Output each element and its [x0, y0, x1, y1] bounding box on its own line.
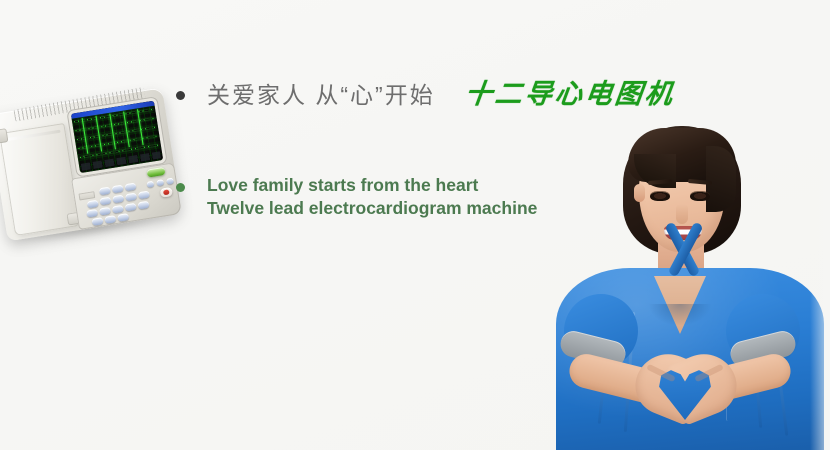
- headline-chinese-text: 关爱家人 从“心”开始: [207, 82, 435, 108]
- nurse-model-image: [530, 118, 830, 450]
- device-key: [138, 201, 150, 210]
- device-nav-key: [146, 181, 154, 188]
- device-key: [87, 200, 99, 209]
- device-key: [92, 217, 104, 226]
- headline-row: 关爱家人 从“心”开始 十二导心电图机: [176, 78, 696, 112]
- subheading-english: Love family starts from the heart Twelve…: [185, 174, 537, 220]
- device-key: [99, 207, 111, 216]
- product-name-chinese: 十二导心电图机: [463, 78, 677, 112]
- device-stop-key: [160, 187, 173, 198]
- subheading-line-2: Twelve lead electrocardiogram machine: [207, 197, 537, 220]
- ecg-machine-image: [0, 82, 193, 260]
- nurse-edge-fade: [810, 118, 830, 450]
- nurse-collar-shadow: [648, 304, 712, 326]
- device-key: [138, 191, 150, 200]
- device-nav-key: [166, 178, 174, 185]
- nurse-eye-left: [650, 192, 670, 201]
- nurse-nose: [676, 204, 688, 224]
- device-key: [117, 213, 129, 222]
- bullet-dot-icon: [176, 91, 185, 100]
- device-nav-key: [156, 179, 164, 186]
- promo-banner: 关爱家人 从“心”开始 十二导心电图机 Love family starts f…: [0, 0, 830, 450]
- device-key: [112, 185, 124, 194]
- device-hinge-top: [0, 128, 8, 143]
- device-key: [125, 203, 137, 212]
- device-key: [125, 193, 137, 202]
- bullet-dot-green-icon: [176, 183, 185, 192]
- device-key: [125, 183, 137, 192]
- device-key: [112, 195, 124, 204]
- device-key: [104, 215, 116, 224]
- device-key: [99, 187, 111, 196]
- nurse-ear-left: [634, 184, 645, 202]
- subheading-line-1: Love family starts from the heart: [207, 174, 537, 197]
- device-brand-plate: [78, 191, 95, 200]
- device-display-screen: [71, 101, 163, 173]
- nurse-eye-right: [690, 192, 710, 201]
- device-key: [112, 205, 124, 214]
- device-start-key: [147, 167, 166, 178]
- device-key: [86, 209, 98, 218]
- device-key: [99, 197, 111, 206]
- headline-chinese: 关爱家人 从“心”开始 十二导心电图机: [207, 78, 675, 112]
- nurse-hair-side: [706, 146, 736, 212]
